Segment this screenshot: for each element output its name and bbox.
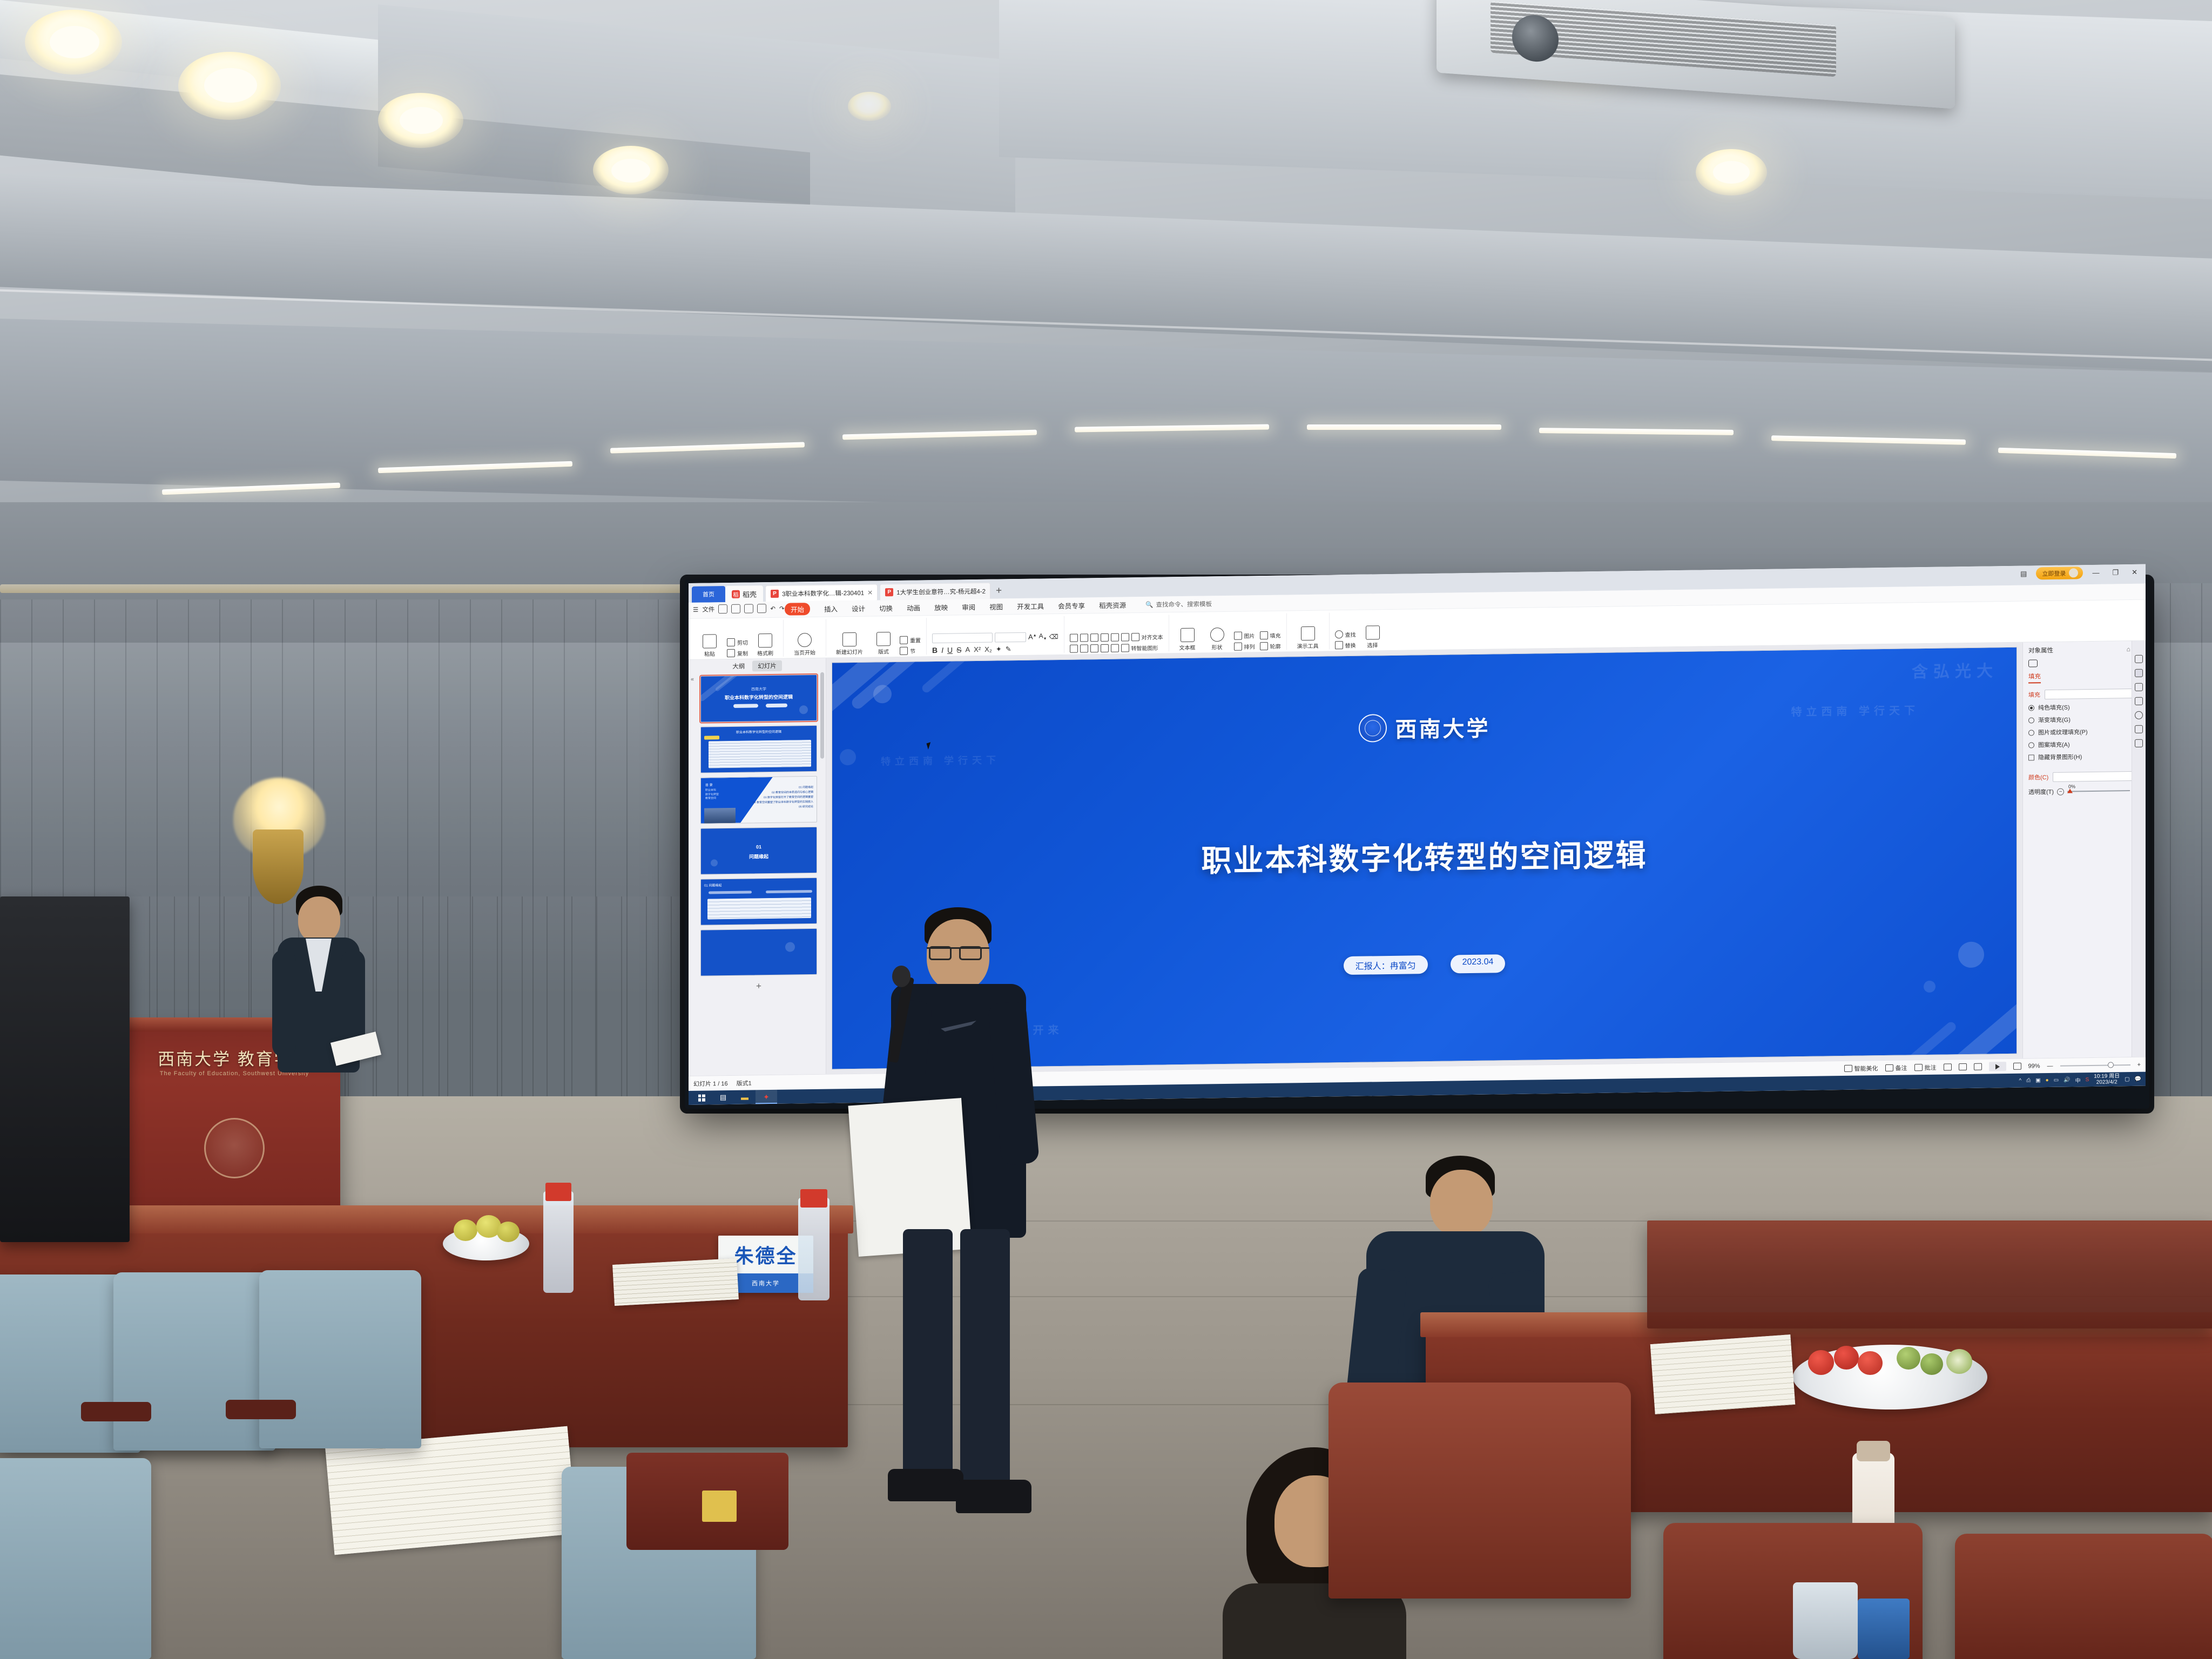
strikethrough-button[interactable]: S — [956, 645, 961, 654]
login-button[interactable]: 立即登录 — [2036, 567, 2083, 579]
pane-header: 对象属性 ⌂ ✕ — [2028, 645, 2140, 655]
grape-1 — [1897, 1347, 1920, 1370]
fill-button[interactable]: 填充 — [1260, 631, 1281, 639]
quick-access-toolbar: ☰ 文件 ↶ ↷ — [693, 604, 785, 614]
replace-label: 替换 — [1345, 640, 1356, 649]
select-icon — [1366, 625, 1380, 639]
doc-tab-1-label: 3职业本科数字化…辑-230401 — [782, 588, 864, 598]
layout-name[interactable]: 版式1 — [737, 1078, 752, 1087]
search-command-box[interactable]: 🔍 查找命令、搜索模板 — [1145, 599, 1212, 609]
sogou-icon[interactable]: S — [2086, 1077, 2089, 1083]
copy-button[interactable]: 复制 — [727, 649, 748, 657]
menu-item-view[interactable]: 视图 — [989, 601, 1003, 611]
menu-item-review[interactable]: 审阅 — [962, 602, 975, 612]
menu-item-docker-resource[interactable]: 稻壳资源 — [1099, 599, 1126, 610]
cup-foreground — [1793, 1582, 1858, 1659]
paragraph-row-2: 转智能图形 — [1070, 643, 1163, 652]
shrink-font-icon[interactable]: A▼ — [1039, 632, 1047, 642]
thumbnail-scrollbar[interactable] — [820, 672, 824, 759]
equipment-cabinet — [0, 896, 130, 1242]
text-effects-icon[interactable]: ✦ — [996, 645, 1002, 653]
speaker-shoe-left — [888, 1469, 963, 1501]
highlight-icon[interactable]: ✎ — [1006, 645, 1011, 653]
align-text-label: 对齐文本 — [1142, 632, 1163, 641]
beautify-icon — [1844, 1065, 1852, 1072]
slide-thumbnail-6[interactable] — [700, 928, 817, 976]
tab-outline[interactable]: 大纲 — [732, 662, 745, 671]
shapes-button[interactable]: 形状 — [1205, 627, 1229, 651]
font-size-select[interactable] — [995, 632, 1026, 642]
new-slide-label: 新建幻灯片 — [836, 647, 863, 656]
speaker-glasses-lens-right — [959, 946, 982, 960]
transparency-label: 透明度(T) — [2028, 787, 2054, 797]
slide-title: 职业本科数字化转型的空间逻辑 — [832, 826, 2017, 886]
downlight-6-core — [1713, 161, 1750, 184]
tab-home[interactable]: 首页 — [692, 586, 725, 603]
collapse-panel-icon[interactable]: « — [691, 676, 694, 683]
date-pill: 2023.04 — [1451, 955, 1506, 974]
taskbar-item-wps[interactable]: ✦ — [756, 1090, 777, 1104]
font-family-select[interactable] — [932, 632, 993, 643]
downlight-1-core — [50, 26, 99, 58]
person-left-head — [298, 896, 340, 943]
radio-gradient-fill[interactable] — [2028, 717, 2034, 723]
option-gradient-fill[interactable]: 渐变填充(G) — [2028, 714, 2140, 725]
option-hide-bg-graphics-label: 隐藏背景图形(H) — [2038, 752, 2082, 761]
option-picture-texture-fill[interactable]: 图片或纹理填充(P) — [2028, 727, 2140, 737]
slide-thumbnail-1[interactable]: 西南大学 职业本科数字化转型的空间逻辑 — [700, 675, 817, 723]
taskbar-item-file-explorer[interactable]: ▤ — [712, 1090, 734, 1105]
doc-tab-2-label: 1大学生创业意符…究-杨元超4-2 — [896, 586, 986, 596]
drawing-small-1: 图片 排列 — [1234, 631, 1255, 651]
menu-item-member[interactable]: 会员专享 — [1058, 600, 1085, 611]
text-direction-icon[interactable] — [1111, 633, 1119, 641]
font-format-row: B I U S A X² X₂ ✦ ✎ — [932, 644, 1058, 655]
volume-icon[interactable]: 🔊 — [2063, 1077, 2070, 1083]
font-controls: A▲ A▼ ⌫ B I U S A X² — [932, 632, 1058, 655]
clock-time: 10:19 周日 — [2094, 1073, 2120, 1080]
file-menu-label[interactable]: 文件 — [702, 605, 714, 613]
start-slideshow-button[interactable] — [1989, 1062, 2006, 1071]
reset-label: 重置 — [910, 636, 921, 644]
play-circle-icon — [798, 633, 812, 647]
arrange-label: 排列 — [1244, 642, 1255, 650]
presenter-pill: 汇报人：冉富匀 — [1344, 956, 1428, 975]
fit-to-window-icon[interactable] — [2013, 1063, 2021, 1070]
new-tab-button[interactable]: + — [996, 585, 1002, 597]
doc-tab-1-close-icon[interactable]: ✕ — [867, 589, 873, 596]
normal-view-icon[interactable] — [1944, 1063, 1952, 1070]
object-properties-pane: 对象属性 ⌂ ✕ 填充 填充 — [2022, 641, 2146, 1058]
pane-pin-icon[interactable]: ⌂ — [2127, 645, 2130, 653]
clock-date: 2023/4/2 — [2094, 1079, 2120, 1085]
option-solid-fill[interactable]: 纯色填充(S) — [2028, 702, 2140, 712]
seat-number-plate — [702, 1491, 737, 1522]
win-icon — [698, 1094, 705, 1101]
drawing-small-2: 填充 轮廓 — [1260, 631, 1281, 650]
reset-icon — [900, 636, 908, 644]
wood-wall-right — [2139, 583, 2212, 1112]
transparency-slider[interactable]: 0% — [2067, 790, 2130, 792]
format-painter-icon — [758, 633, 772, 647]
close-button[interactable]: ✕ — [2128, 568, 2141, 576]
login-button-label: 立即登录 — [2042, 569, 2066, 578]
docker-icon: 稻 — [732, 590, 740, 598]
textbox-label: 文本框 — [1179, 643, 1196, 651]
scissors-icon — [727, 638, 735, 646]
menu-item-slideshow[interactable]: 放映 — [934, 602, 948, 612]
subscript-button[interactable]: X₂ — [984, 645, 992, 653]
menu-item-insert[interactable]: 插入 — [824, 603, 838, 613]
seat-2 — [113, 1272, 275, 1451]
statusbar-right: 智能美化 备注 批注 — [1844, 1060, 2141, 1073]
wps-ppt-icon-2: P — [885, 588, 893, 596]
wps-ppt-icon: P — [771, 590, 779, 598]
menu-item-animation[interactable]: 动画 — [907, 602, 920, 612]
find-button[interactable]: 查找 — [1335, 630, 1356, 638]
search-placeholder-label: 查找命令、搜索模板 — [1156, 599, 1212, 609]
kiwi-slice — [1946, 1349, 1972, 1374]
minimize-button[interactable]: — — [2088, 569, 2103, 577]
onedrive-icon[interactable]: ▣ — [2035, 1077, 2040, 1083]
save-as-icon[interactable] — [731, 604, 740, 613]
slide-thumbnail-3[interactable]: 目 录 职业本科数字化转型教育空间 01 问题缘起02 教育空间的本质追问与核心… — [700, 776, 817, 824]
lectern-seal-icon — [204, 1118, 265, 1178]
speaker-glasses-lens-left — [929, 946, 952, 960]
thumbnail-list[interactable]: « 西南大学 职业本科数字化转型的空间逻辑 — [689, 672, 826, 1076]
seat-row2-1 — [0, 1458, 151, 1659]
align-text-icon[interactable] — [1131, 633, 1139, 641]
numbering-icon[interactable] — [1080, 633, 1088, 642]
outline-icon — [1260, 642, 1268, 650]
select-label: 选择 — [1367, 640, 1378, 649]
picture-label: 图片 — [1244, 631, 1255, 639]
align-center-icon[interactable] — [1080, 644, 1088, 652]
color-row: 颜色(C) — [2028, 771, 2140, 783]
sliders-icon[interactable] — [2135, 669, 2143, 677]
orange-3 — [497, 1222, 520, 1242]
color-row-label: 颜色(C) — [2028, 773, 2048, 781]
bullets-icon[interactable] — [1070, 633, 1078, 642]
columns-icon[interactable] — [1111, 644, 1119, 652]
option-solid-fill-label: 纯色填充(S) — [2038, 703, 2070, 712]
convert-smartart-label: 转智能图形 — [1131, 643, 1158, 652]
ribbon-group-paragraph: 对齐文本 转智能图形 — [1064, 615, 1169, 653]
shield-icon[interactable]: ● — [2046, 1077, 2049, 1083]
replace-icon — [1335, 641, 1343, 649]
slide-thumbnail-4[interactable]: 01 问题缘起 — [700, 827, 817, 875]
document-right — [1650, 1334, 1795, 1414]
effects-icon[interactable] — [2135, 683, 2143, 691]
menu-item-start[interactable]: 开始 — [785, 603, 810, 616]
paste-button[interactable]: 粘贴 — [697, 634, 722, 658]
line-spacing-icon[interactable] — [1121, 633, 1129, 641]
paragraph-controls: 对齐文本 转智能图形 — [1070, 632, 1163, 652]
start-from-current-label: 当页开始 — [794, 648, 815, 656]
transparency-slider-thumb[interactable] — [2067, 788, 2073, 793]
replace-button[interactable]: 替换 — [1335, 640, 1356, 649]
comments-button[interactable]: 批注 — [1914, 1063, 1937, 1072]
university-name: 西南大学 — [1395, 711, 1491, 744]
action-center-icon[interactable]: ▢ — [2125, 1076, 2129, 1082]
seat-3 — [259, 1270, 421, 1448]
water-bottle-1-cap — [545, 1183, 571, 1201]
outline-button[interactable]: 轮廓 — [1260, 642, 1281, 650]
seat-right-3 — [1955, 1534, 2212, 1659]
titlebar-right: ▤ 立即登录 — ❐ ✕ — [2017, 566, 2141, 580]
cup-foreground-2 — [1858, 1599, 1910, 1659]
redo-icon[interactable]: ↷ — [779, 604, 785, 612]
menu-item-transition[interactable]: 切换 — [879, 603, 893, 613]
outline-label: 轮廓 — [1270, 642, 1281, 650]
bold-button[interactable]: B — [932, 645, 938, 654]
search-icon: 🔍 — [1145, 601, 1153, 608]
notes-icon — [1885, 1064, 1893, 1071]
copy-label: 复制 — [737, 649, 748, 657]
fill-bucket-pane-icon — [2028, 659, 2038, 667]
tab-home-label: 首页 — [703, 590, 714, 598]
comments-label: 批注 — [1925, 1063, 1937, 1071]
shapes-label: 形状 — [1212, 643, 1223, 651]
pane-section-fill[interactable]: 填充 — [2028, 672, 2041, 683]
print-icon[interactable] — [744, 604, 753, 613]
person-center-speaker — [891, 907, 1053, 1609]
smartart-icon[interactable] — [1121, 644, 1129, 652]
save-icon[interactable] — [718, 604, 727, 613]
water-bottle-2 — [798, 1198, 829, 1300]
select-button[interactable]: 选择 — [1361, 625, 1385, 649]
university-seal-icon — [1359, 714, 1387, 743]
pane-title[interactable]: 对象属性 — [2028, 646, 2053, 655]
paste-label: 粘贴 — [704, 649, 715, 657]
taskbar-clock[interactable]: 10:19 周日 2023/4/2 — [2094, 1073, 2120, 1085]
zoom-level[interactable]: 99% — [2028, 1063, 2040, 1069]
add-slide-button[interactable]: + — [700, 979, 817, 993]
reading-view-icon[interactable] — [1974, 1063, 1982, 1070]
system-tray: ^ ⎙ ▣ ● ▭ 🔊 中 S 10:19 周日 2023/4/2 — [2019, 1073, 2146, 1087]
mouse-cursor — [927, 742, 933, 750]
strawberry-2 — [1834, 1346, 1859, 1370]
zoom-out-button[interactable]: — — [2047, 1062, 2053, 1069]
fill-row: 填充 — [2028, 689, 2140, 700]
fill-preset-dropdown[interactable] — [2045, 689, 2140, 699]
attendee-head — [1430, 1170, 1493, 1237]
clipboard-small-group: 剪切 复制 — [727, 638, 748, 657]
seat-right-1 — [1328, 1382, 1631, 1599]
slides-small-group: 重置 节 — [900, 636, 921, 655]
editing-small: 查找 替换 — [1335, 630, 1356, 649]
grow-font-icon[interactable]: A▲ — [1028, 633, 1037, 641]
thumbnail-tabs: 大纲 幻灯片 — [689, 658, 826, 674]
ime-cn-icon[interactable]: 中 — [2075, 1076, 2081, 1084]
fill-bucket-icon — [1260, 631, 1268, 639]
clear-format-icon[interactable]: ⌫ — [1049, 633, 1058, 640]
university-logo-block: 西南大学 — [1359, 711, 1491, 744]
textbox-button[interactable]: 文本框 — [1175, 628, 1201, 651]
beautify-button[interactable]: 智能美化 — [1844, 1064, 1878, 1073]
copy-icon — [727, 649, 735, 657]
font-color-button[interactable]: A — [965, 645, 970, 653]
presentation-tools-button[interactable]: 演示工具 — [1292, 626, 1324, 650]
layout-icon — [876, 632, 891, 646]
ribbon-group-slides: 新建幻灯片 版式 重置 — [826, 618, 927, 656]
shapes-icon — [1210, 628, 1224, 642]
justify-icon[interactable] — [1101, 644, 1109, 652]
taskbar-item-folder[interactable]: ▬ — [734, 1090, 756, 1104]
deco-dot-1 — [873, 685, 892, 703]
increase-indent-icon[interactable] — [1101, 633, 1109, 641]
person-left-standing — [270, 886, 389, 1220]
room-background: 首页 稻 稻壳 P 3职业本科数字化…辑-230401 ✕ P — [0, 0, 2212, 1659]
option-pattern-fill[interactable]: 图案填充(A) — [2028, 739, 2140, 750]
deco-dot-4 — [1924, 981, 1935, 993]
layout-label: 版式 — [878, 647, 889, 655]
ribbon-group-font: A▲ A▼ ⌫ B I U S A X² — [927, 616, 1064, 654]
ribbon-group-clipboard: 粘贴 剪切 复制 — [692, 619, 784, 657]
arrange-button[interactable]: 排列 — [1234, 642, 1255, 651]
checkbox-hide-bg-graphics[interactable] — [2028, 754, 2034, 760]
downlight-7 — [848, 92, 891, 121]
presentation-tools-icon — [1301, 626, 1315, 640]
slide-sorter-icon[interactable] — [1959, 1063, 1967, 1070]
new-slide-icon — [842, 632, 857, 646]
strip-light-6 — [1307, 424, 1501, 430]
speaker-shoe-right — [956, 1480, 1031, 1513]
reset-button[interactable]: 重置 — [900, 636, 921, 644]
start-button[interactable] — [691, 1090, 712, 1105]
section-label: 节 — [910, 646, 915, 655]
format-painter-label: 格式刷 — [757, 648, 773, 656]
grape-2 — [1920, 1353, 1943, 1375]
seat-armrest-2 — [226, 1400, 296, 1419]
menu-item-developer[interactable]: 开发工具 — [1017, 601, 1044, 611]
water-bottle-2-cap — [800, 1189, 827, 1208]
notifications-icon[interactable]: 💬 — [2135, 1076, 2141, 1082]
slide-counter: 幻灯片 1 / 16 — [693, 1079, 728, 1088]
downlight-4-core — [611, 159, 650, 183]
fill-label: 填充 — [1270, 631, 1281, 639]
superscript-button[interactable]: X² — [974, 645, 981, 653]
watermark-2: 特立西南 学行天下 — [1791, 702, 1919, 719]
ribbon-group-tools: 演示工具 — [1287, 612, 1330, 650]
doc-tab-1[interactable]: P 3职业本科数字化…辑-230401 ✕ — [765, 584, 878, 602]
ribbon-group-slideshow: 当页开始 — [784, 619, 826, 656]
slide-thumbnail-5[interactable]: 01 问题缘起 — [700, 878, 817, 926]
arrange-icon — [1234, 642, 1242, 650]
person-left-arm-left — [272, 949, 296, 1057]
format-painter-button[interactable]: 格式刷 — [753, 633, 778, 657]
fill-row-label: 填充 — [2028, 690, 2040, 699]
wall-accent-strip — [0, 584, 697, 593]
downlight-3-core — [400, 107, 443, 134]
option-gradient-fill-label: 渐变填充(G) — [2038, 716, 2071, 725]
conference-room-scene: 首页 稻 稻壳 P 3职业本科数字化…辑-230401 ✕ P — [0, 0, 2212, 1659]
ribbon-group-editing: 查找 替换 选择 — [1330, 612, 1390, 649]
speaker-leg-right — [960, 1229, 1010, 1483]
help-icon[interactable] — [2135, 711, 2143, 719]
pane-icon-strip — [2132, 641, 2146, 1057]
transparency-decrease-button[interactable]: − — [2057, 788, 2064, 795]
presentation-tools-label: 演示工具 — [1297, 641, 1319, 650]
comment-icon — [1914, 1064, 1923, 1071]
strawberry-1 — [1808, 1350, 1834, 1375]
section-icon — [900, 646, 908, 655]
notes-label: 备注 — [1896, 1063, 1907, 1072]
align-left-icon[interactable] — [1070, 644, 1078, 652]
start-from-current-button[interactable]: 当页开始 — [789, 632, 820, 656]
size-icon[interactable] — [2135, 697, 2143, 705]
tab-docker[interactable]: 稻 稻壳 — [725, 585, 763, 602]
radio-picture-texture-fill[interactable] — [2028, 730, 2034, 736]
doc-tab-2[interactable]: P 1大学生创业意符…究-杨元超4-2 — [880, 583, 990, 601]
notes-button[interactable]: 备注 — [1885, 1063, 1907, 1073]
align-right-icon[interactable] — [1090, 644, 1098, 652]
option-hide-bg-graphics[interactable]: 隐藏背景图形(H) — [2028, 752, 2140, 762]
cut-button[interactable]: 剪切 — [727, 638, 748, 646]
decrease-indent-icon[interactable] — [1090, 633, 1098, 642]
radio-solid-fill[interactable] — [2028, 705, 2034, 711]
notebook-on-table — [612, 1258, 739, 1306]
table-right-far — [1647, 1220, 2212, 1328]
layout-button[interactable]: 版式 — [872, 631, 895, 655]
underline-button[interactable]: U — [947, 645, 953, 654]
zoom-in-button[interactable]: + — [2137, 1061, 2141, 1068]
avatar — [2069, 568, 2078, 577]
textbox-icon — [1181, 628, 1195, 642]
fill-color-dropdown[interactable] — [2053, 771, 2140, 782]
ribbon-group-drawing: 文本框 形状 图片 — [1169, 613, 1287, 651]
microphone-head — [892, 966, 911, 987]
search-magnifier-icon — [1335, 630, 1343, 638]
split-view-icon[interactable]: ▤ — [2017, 569, 2031, 578]
speaker-leg-left — [903, 1229, 953, 1478]
strawberry-3 — [1858, 1351, 1883, 1375]
image-icon[interactable] — [2135, 725, 2143, 733]
zoom-slider-knob[interactable] — [2108, 1062, 2114, 1068]
slide-thumbnail-panel: 大纲 幻灯片 « 西南大学 职业本科数字化转型的空间逻辑 — [689, 658, 826, 1076]
up-arrow-icon[interactable]: ^ — [2019, 1077, 2022, 1083]
display-icon[interactable]: ▭ — [2054, 1077, 2059, 1083]
file-menu-button[interactable]: ☰ — [693, 605, 698, 613]
watermark-4: 特立西南 学行天下 — [881, 752, 1000, 768]
downlight-2-core — [204, 68, 257, 103]
transparency-row: 透明度(T) − 0% + — [2028, 786, 2140, 797]
watermark-1: 含弘光大 — [1912, 657, 1998, 682]
rocket-icon[interactable] — [2135, 655, 2143, 663]
tab-slides[interactable]: 幻灯片 — [752, 660, 782, 672]
zoom-slider[interactable] — [2060, 1064, 2130, 1067]
italic-button[interactable]: I — [941, 645, 943, 654]
undo-icon[interactable]: ↶ — [770, 604, 775, 612]
picture-button[interactable]: 图片 — [1234, 631, 1255, 640]
pane-fill-tab[interactable] — [2028, 658, 2140, 667]
crop-icon[interactable] — [2135, 739, 2143, 747]
restore-button[interactable]: ❐ — [2108, 568, 2122, 577]
deco-stripe-1 — [832, 647, 974, 738]
slide-thumbnail-2[interactable]: 职业本科数字化转型的空间逻辑 — [700, 725, 817, 773]
water-bottle-3-cap — [1857, 1441, 1890, 1461]
print-preview-icon[interactable] — [757, 604, 766, 613]
option-picture-texture-fill-label: 图片或纹理填充(P) — [2038, 727, 2088, 737]
section-button[interactable]: 节 — [900, 646, 921, 655]
beautify-label: 智能美化 — [1854, 1064, 1878, 1073]
usb-icon[interactable]: ⎙ — [2026, 1077, 2031, 1083]
cut-label: 剪切 — [737, 638, 748, 646]
orange-1 — [454, 1219, 477, 1241]
new-slide-button[interactable]: 新建幻灯片 — [832, 632, 867, 656]
menu-item-design[interactable]: 设计 — [852, 603, 865, 613]
radio-pattern-fill[interactable] — [2028, 742, 2034, 748]
